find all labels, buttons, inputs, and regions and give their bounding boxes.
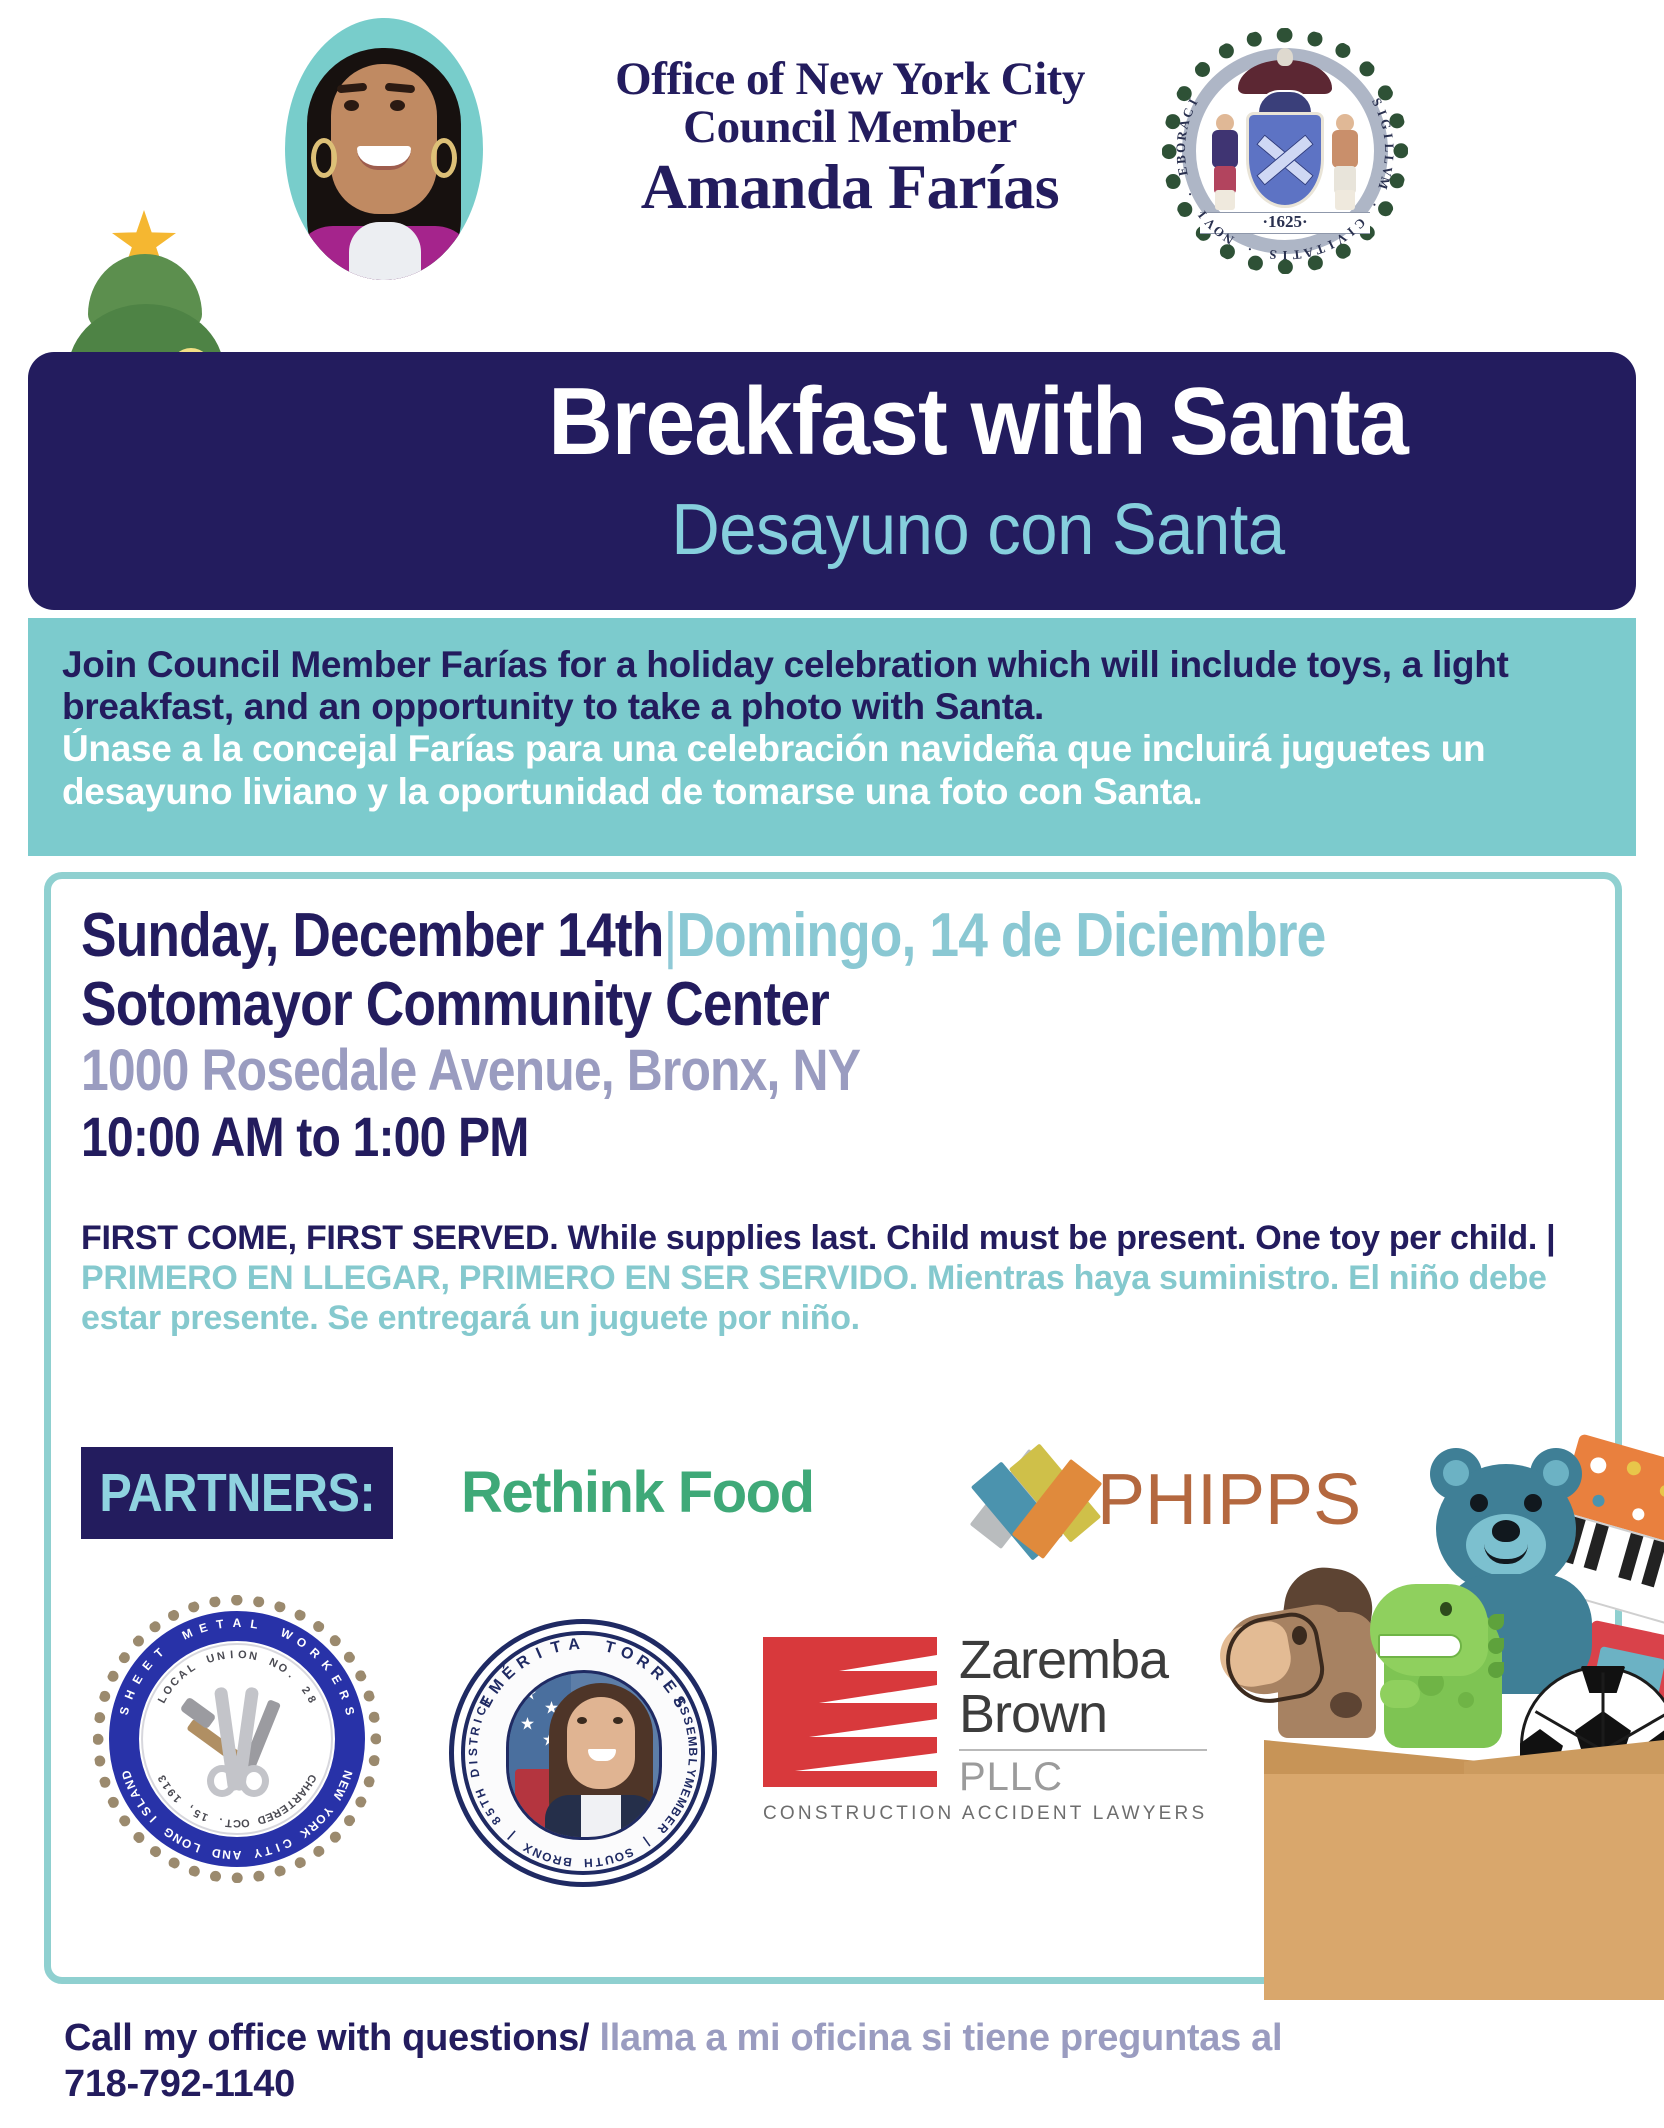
horse-spot	[1330, 1692, 1362, 1718]
piano-dot	[1625, 1460, 1642, 1477]
zaremba-entity: PLLC	[959, 1755, 1063, 1800]
avatar-eye-right	[390, 100, 405, 111]
description-spanish: Únase a la concejal Farías para una cele…	[62, 728, 1602, 812]
cardboard-box	[1264, 1740, 1664, 2000]
toy-dinosaur-icon	[1370, 1572, 1510, 1748]
piano-black-key	[1641, 1540, 1664, 1588]
zaremba-line2: Brown	[959, 1687, 1168, 1741]
title-banner: Breakfast with Santa Desayuno con Santa	[28, 352, 1636, 610]
et-subtitle-text: ASSEMBLYMEMBER | SOUTH BRONX | 85TH DIST…	[454, 1624, 712, 1882]
piano-black-key	[1618, 1533, 1643, 1581]
bear-nose	[1492, 1520, 1520, 1542]
event-address: 1000 Rosedale Avenue, Bronx, NY	[81, 1041, 1380, 1102]
piano-dot	[1631, 1507, 1646, 1522]
flyer-page: Office of New York City Council Member A…	[0, 0, 1664, 2128]
date-separator: |	[664, 901, 677, 970]
bear-eye-left	[1470, 1494, 1488, 1512]
dino-spike	[1488, 1662, 1504, 1678]
event-date-es: Domingo, 14 de Diciembre	[676, 901, 1325, 970]
office-title: Office of New York City Council Member A…	[540, 56, 1160, 219]
zb-notch	[839, 1655, 937, 1671]
bear-ear-inner-right	[1543, 1460, 1569, 1486]
zb-notch	[795, 1753, 937, 1771]
toy-box-illustration	[1220, 1440, 1664, 2000]
zaremba-rule	[959, 1749, 1207, 1751]
logo-sheet-metal-workers-seal: SHEET METAL WORKERS NEW YORK CITY AND LO…	[93, 1595, 381, 1883]
event-title-es: Desayuno con Santa	[401, 494, 1554, 566]
box-front	[1264, 1774, 1664, 2000]
footer-phone[interactable]: 718-792-1140	[64, 2063, 295, 2105]
footer-english: Call my office with questions/	[64, 2017, 589, 2059]
footer-spanish: llama a mi oficina si tiene preguntas al	[599, 2017, 1282, 2059]
piano-dot	[1658, 1484, 1664, 1499]
event-details: Sunday, December 14th|Domingo, 14 de Dic…	[81, 903, 1591, 1167]
event-date-en: Sunday, December 14th	[81, 901, 664, 970]
logo-emerita-torres-seal: EMÉRITA TORRES ASSEMBLYMEMBER | SOUTH BR…	[449, 1619, 717, 1887]
zaremba-mark-icon	[763, 1637, 937, 1787]
footer-contact: Call my office with questions/ llama a m…	[64, 2016, 1344, 2107]
dino-mouth	[1378, 1634, 1462, 1658]
disclaimer-block: FIRST COME, FIRST SERVED. While supplies…	[81, 1219, 1593, 1338]
bear-ear-inner-left	[1443, 1460, 1469, 1486]
office-line1: Office of New York City	[540, 56, 1160, 104]
smw-inner-bottom-text: CHARTERED OCT. 15, 1913	[93, 1595, 381, 1883]
event-date-row: Sunday, December 14th|Domingo, 14 de Dic…	[81, 903, 1380, 968]
dino-head	[1370, 1584, 1488, 1676]
piano-dot	[1588, 1455, 1608, 1475]
avatar-shirt	[349, 222, 421, 280]
partners-label: PARTNERS:	[81, 1447, 393, 1539]
dino-eye	[1440, 1602, 1452, 1616]
avatar-eye-left	[344, 100, 359, 111]
zb-notch	[819, 1685, 937, 1703]
seal-year: ·1625·	[1160, 212, 1410, 232]
zaremba-tagline: CONSTRUCTION ACCIDENT LAWYERS	[763, 1803, 1207, 1825]
event-venue: Sotomayor Community Center	[81, 972, 1380, 1037]
event-time: 10:00 AM to 1:00 PM	[81, 1108, 1380, 1167]
zaremba-name: Zaremba Brown	[959, 1633, 1168, 1741]
zaremba-line1: Zaremba	[959, 1633, 1168, 1687]
dino-dot	[1458, 1692, 1474, 1708]
disclaimer-english: FIRST COME, FIRST SERVED. While supplies…	[81, 1219, 1555, 1257]
description-block: Join Council Member Farías for a holiday…	[28, 618, 1636, 856]
logo-rethink-food: Rethink Food	[461, 1459, 814, 1526]
official-name: Amanda Farías	[540, 154, 1160, 219]
bear-eye-right	[1524, 1494, 1542, 1512]
nyc-city-seal-icon: SIGILLVM · CIVITATIS · NOVI · EBORACI ·1…	[1160, 26, 1410, 276]
piano-dot	[1591, 1493, 1606, 1508]
avatar-earring-left	[311, 138, 337, 178]
horse-eye	[1292, 1626, 1307, 1645]
office-line2: Council Member	[540, 104, 1160, 152]
partners-label-text: PARTNERS:	[99, 1462, 375, 1524]
event-title-en: Breakfast with Santa	[401, 374, 1554, 470]
zb-notch	[809, 1719, 937, 1737]
phipps-mark-icon	[989, 1449, 1093, 1553]
dino-spike	[1488, 1614, 1504, 1630]
ball-seam	[1602, 1673, 1605, 1751]
avatar-earring-right	[431, 138, 457, 178]
seal-motto-text: SIGILLVM · CIVITATIS · NOVI · EBORACI	[1160, 26, 1410, 276]
logo-zaremba-brown: Zaremba Brown PLLC CONSTRUCTION ACCIDENT…	[763, 1637, 1283, 1837]
dino-arm	[1380, 1680, 1420, 1708]
description-english: Join Council Member Farías for a holiday…	[62, 644, 1602, 728]
dino-spike	[1488, 1638, 1504, 1654]
piano-black-key	[1584, 1523, 1609, 1571]
disclaimer-spanish: PRIMERO EN LLEGAR, PRIMERO EN SER SERVID…	[81, 1259, 1547, 1337]
